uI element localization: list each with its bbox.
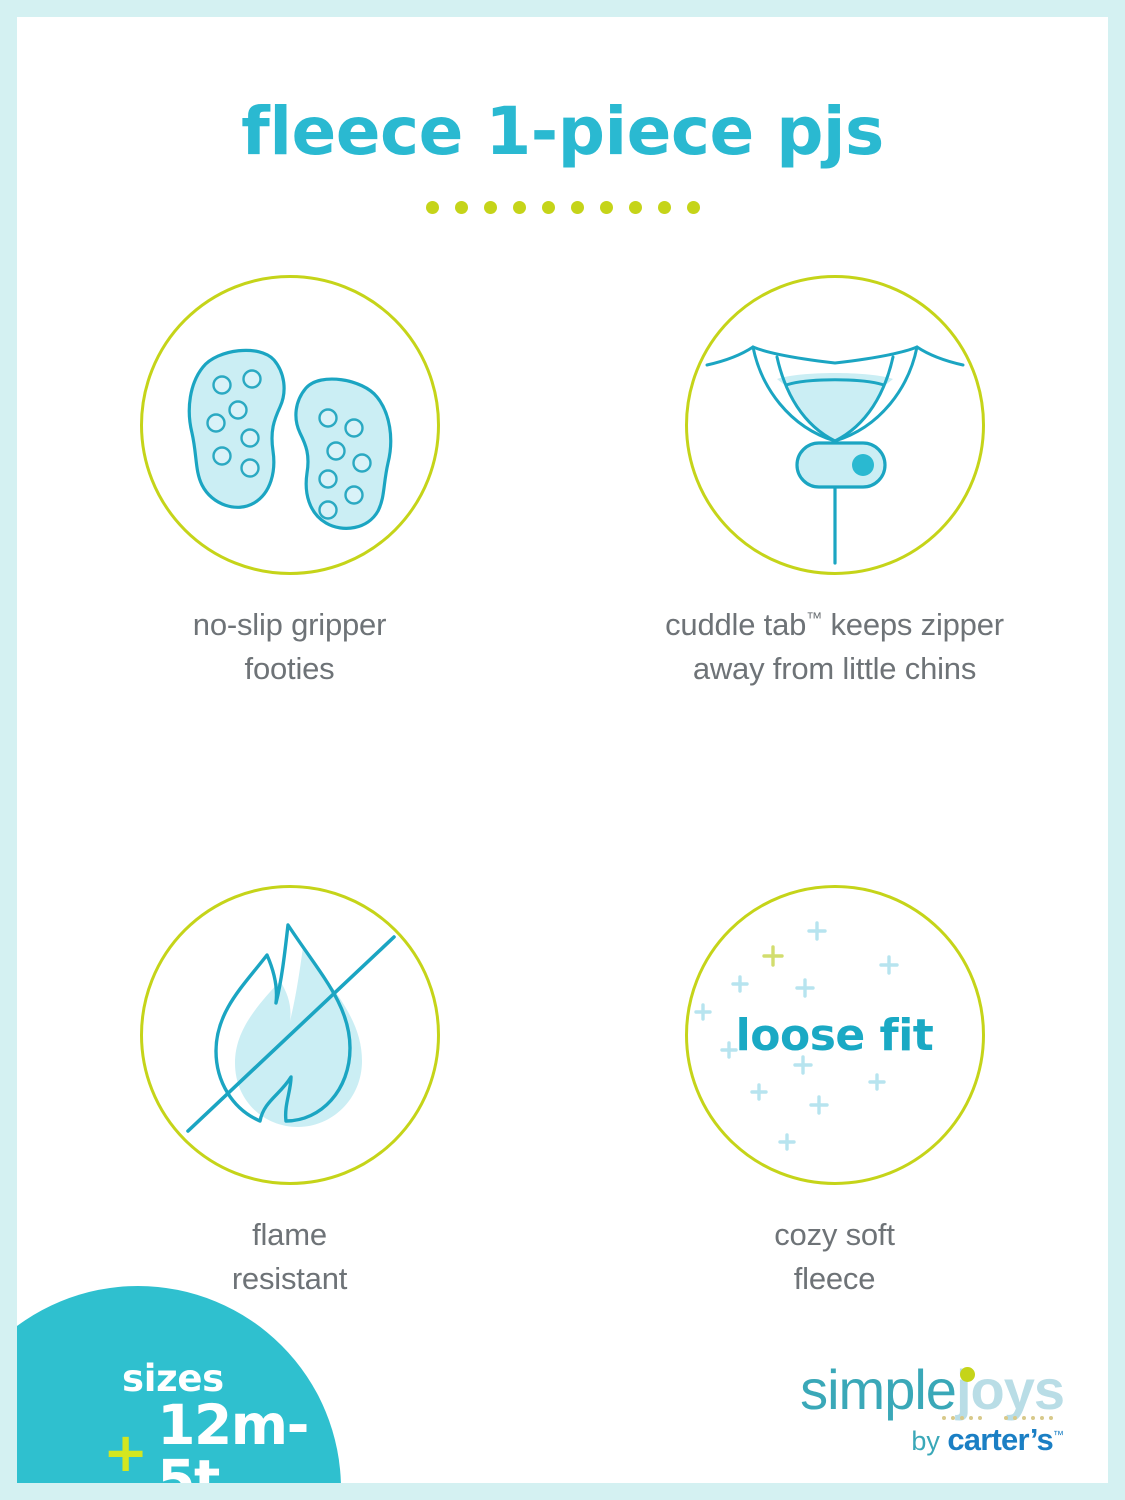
logo-j-dot-icon xyxy=(960,1367,975,1382)
feature-caption-line-2: fleece xyxy=(774,1257,895,1301)
feature-caption-line-1: cuddle tab™ keeps zipper xyxy=(665,603,1004,647)
logo-joys-text: joys xyxy=(956,1358,1064,1421)
no-flame-icon xyxy=(140,885,440,1185)
divider-dot xyxy=(658,201,671,214)
divider-dot xyxy=(542,201,555,214)
sizes-range-row: + 12m-5t xyxy=(103,1398,353,1483)
feature-grid: no-slip gripper footies xyxy=(17,275,1108,1301)
divider-dot xyxy=(600,201,613,214)
title-divider-dots xyxy=(17,201,1108,214)
plus-icon: + xyxy=(103,1426,148,1480)
feature-gripper-footies: no-slip gripper footies xyxy=(17,275,562,691)
divider-dot xyxy=(426,201,439,214)
divider-dot xyxy=(513,201,526,214)
feature-flame-resistant: flame resistant xyxy=(17,885,562,1301)
feature-row-2: flame resistant xyxy=(17,885,1108,1301)
feature-icon-circle: loose fit xyxy=(685,885,985,1185)
divider-dot xyxy=(629,201,642,214)
feature-icon-circle xyxy=(140,885,440,1185)
brand-logo: simplejoys by carter’s™ xyxy=(754,1362,1064,1455)
feature-caption-line-1: flame xyxy=(232,1213,347,1257)
feature-caption: flame resistant xyxy=(232,1213,347,1301)
feature-caption: cozy soft fleece xyxy=(774,1213,895,1301)
logo-by-text: by xyxy=(911,1426,947,1456)
feature-cuddle-tab: cuddle tab™ keeps zipper away from littl… xyxy=(562,275,1107,691)
cuddle-tab-collar-icon xyxy=(685,275,985,575)
loose-fit-label: loose fit xyxy=(685,1010,985,1061)
logo-carters-text: carter’s xyxy=(947,1422,1053,1457)
feature-caption-line-2: footies xyxy=(193,647,386,691)
logo-brand-name: simplejoys xyxy=(754,1362,1064,1418)
logo-underline-dots-icon xyxy=(878,1414,1058,1422)
product-infographic-poster: fleece 1-piece pjs xyxy=(0,0,1125,1500)
feature-caption-line-1: no-slip gripper xyxy=(193,603,386,647)
gripper-footies-icon xyxy=(140,275,440,575)
divider-dot xyxy=(571,201,584,214)
feature-caption-line-2: resistant xyxy=(232,1257,347,1301)
feature-icon-circle xyxy=(140,275,440,575)
feature-caption-line-2: away from little chins xyxy=(665,647,1004,691)
sizes-range: 12m-5t xyxy=(157,1398,353,1483)
divider-dot xyxy=(687,201,700,214)
logo-tagline: by carter’s™ xyxy=(754,1424,1064,1455)
logo-trademark: ™ xyxy=(1053,1430,1064,1442)
feature-caption-line-1: cozy soft xyxy=(774,1213,895,1257)
page-title: fleece 1-piece pjs xyxy=(17,93,1108,170)
sizes-badge-text: sizes + 12m-5t xyxy=(103,1357,353,1483)
divider-dot xyxy=(455,201,468,214)
feature-caption: cuddle tab™ keeps zipper away from littl… xyxy=(665,603,1004,691)
feature-row-1: no-slip gripper footies xyxy=(17,275,1108,691)
divider-dot xyxy=(484,201,497,214)
feature-icon-circle xyxy=(685,275,985,575)
feature-caption: no-slip gripper footies xyxy=(193,603,386,691)
feature-cozy-soft-fleece: loose fit cozy soft fleece xyxy=(562,885,1107,1301)
poster-inner-canvas: fleece 1-piece pjs xyxy=(17,17,1108,1483)
logo-simple-text: simple xyxy=(800,1358,956,1421)
